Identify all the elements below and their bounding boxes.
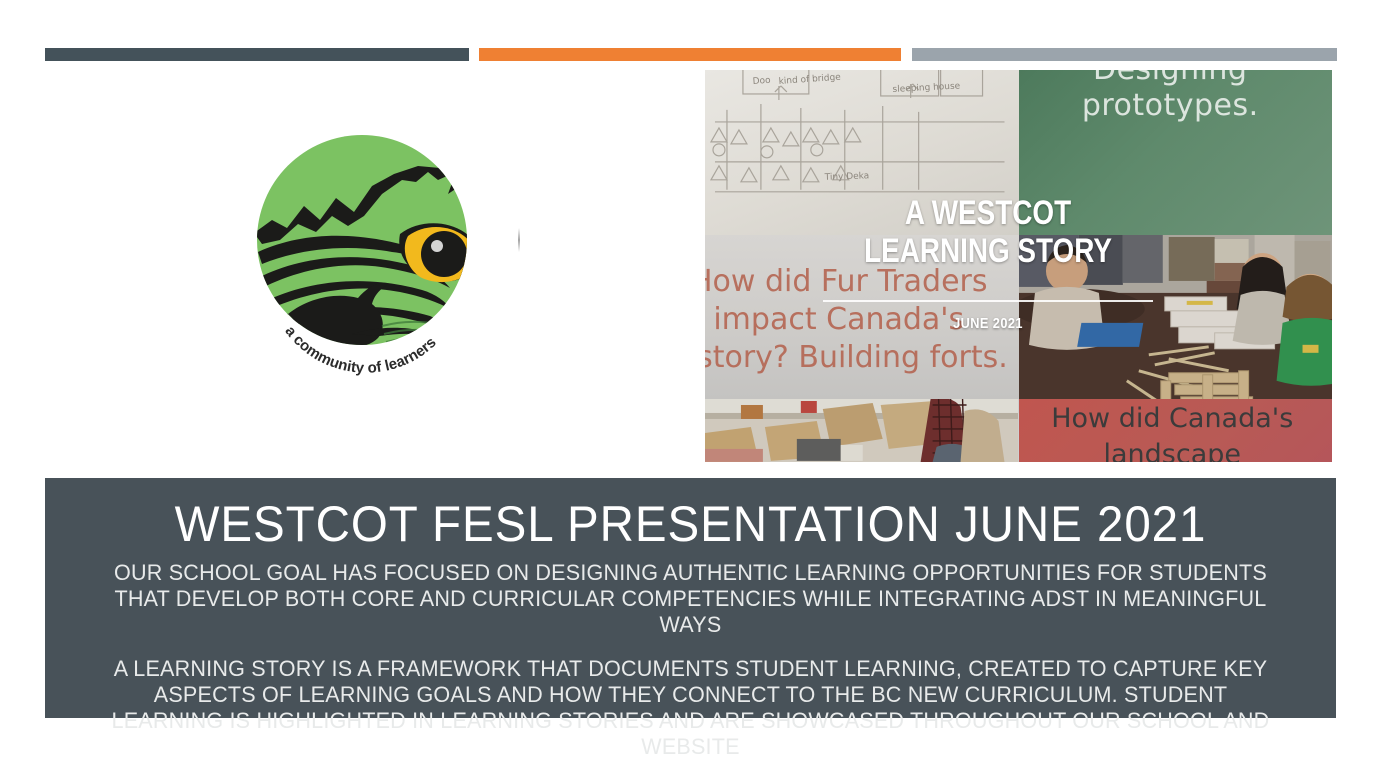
learning-story-paragraph: A LEARNING STORY IS A FRAMEWORK THAT DOC… [97, 656, 1284, 760]
collage-panel-canada-landscape: How did Canada's landscape [1019, 399, 1333, 462]
whiteboard-sketch-icon: Doo kind of bridge sleeping house Tiny D… [705, 70, 1018, 235]
accent-bar-dark [45, 48, 469, 61]
slide-text-block: WESTCOT FESL PRESENTATION JUNE 2021 OUR … [45, 478, 1336, 718]
collage-text-canada-landscape: How did Canada's landscape [1025, 401, 1321, 462]
stray-mark [518, 228, 520, 252]
presentation-slide: a community of learners [0, 0, 1384, 776]
accent-bar-orange [479, 48, 901, 61]
cardboard-build-photo-icon [705, 399, 1018, 462]
svg-text:Doo: Doo [752, 76, 771, 87]
school-goal-paragraph: OUR SCHOOL GOAL HAS FOCUSED ON DESIGNING… [97, 560, 1284, 638]
collage-panel-whiteboard: Doo kind of bridge sleeping house Tiny D… [705, 70, 1019, 235]
school-logo-graphic: a community of learners [232, 128, 500, 376]
collage-panel-designing-prototypes: Designing prototypes. [1019, 70, 1333, 235]
page-title: WESTCOT FESL PRESENTATION JUNE 2021 [98, 496, 1283, 552]
collage-text-designing-prototypes: Designing prototypes. [1019, 70, 1323, 124]
svg-text:Tiny Deka: Tiny Deka [824, 171, 870, 183]
svg-text:sleeping house: sleeping house [892, 81, 961, 95]
collage-text-fur-traders: How did Fur Traders impact Canada's hist… [705, 263, 1015, 377]
learning-story-collage: Doo kind of bridge sleeping house Tiny D… [705, 70, 1332, 462]
svg-text:kind of bridge: kind of bridge [778, 73, 841, 87]
collage-panel-fur-traders: How did Fur Traders impact Canada's hist… [705, 235, 1019, 400]
school-logo: a community of learners [232, 128, 500, 376]
collage-panel-cardboard-photo [705, 399, 1019, 462]
accent-bar-gray [912, 48, 1337, 61]
classroom-photo-icon [1019, 235, 1332, 419]
collage-panel-classroom-photo [1019, 235, 1333, 419]
